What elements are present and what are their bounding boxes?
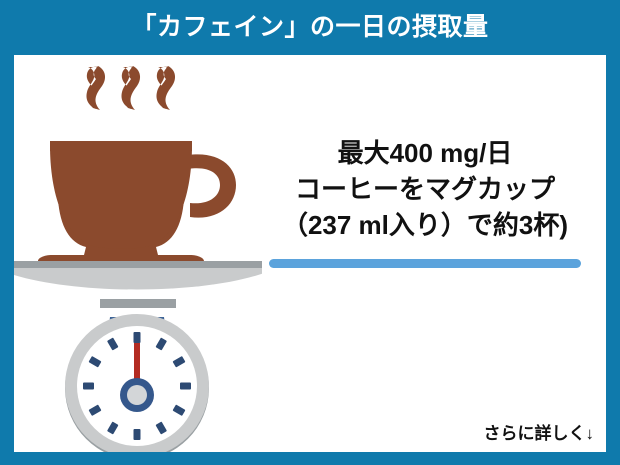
dial-hub-center xyxy=(127,385,147,405)
illustration-coffee-scale xyxy=(14,55,262,452)
caffeine-summary: 最大400 mg/日 コーヒーをマグカップ （237 ml入り）で約3杯) xyxy=(250,135,600,268)
summary-line-3: （237 ml入り）で約3杯) xyxy=(250,207,600,243)
infographic-root: 「カフェイン」の一日の摂取量 xyxy=(0,0,620,465)
scale-tray xyxy=(14,261,262,290)
coffee-cup-icon xyxy=(38,141,236,267)
scale-post xyxy=(100,299,176,308)
content-card: 最大400 mg/日 コーヒーをマグカップ （237 ml入り）で約3杯) さら… xyxy=(14,55,606,452)
summary-line-2: コーヒーをマグカップ xyxy=(250,171,600,207)
learn-more-link[interactable]: さらに詳しく↓ xyxy=(484,419,595,444)
accent-divider xyxy=(269,259,581,268)
page-title: 「カフェイン」の一日の摂取量 xyxy=(0,10,620,44)
steam-icon xyxy=(86,66,175,110)
summary-line-1: 最大400 mg/日 xyxy=(250,135,600,171)
